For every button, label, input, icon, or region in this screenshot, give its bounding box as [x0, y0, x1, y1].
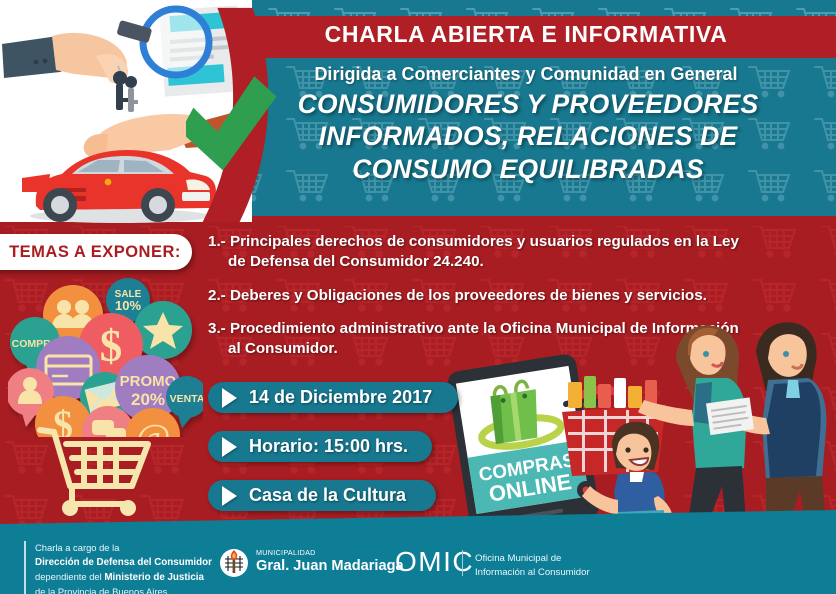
main-title-line-2: INFORMADOS, RELACIONES DE	[226, 120, 830, 152]
omic-subtitle-line-1: Oficina Municipal de	[475, 552, 590, 566]
municipality-crest-icon	[219, 548, 249, 578]
footer-credit-line-1: Charla a cargo de la	[35, 541, 212, 555]
bubble-promo-label: PROMO	[120, 373, 177, 390]
omic-subtitle-line-2: Información al Consumidor	[475, 566, 590, 580]
footer: Charla a cargo de la Dirección de Defens…	[0, 532, 836, 594]
omic-subtitle: Oficina Municipal de Información al Cons…	[475, 552, 590, 579]
municipality-name: Gral. Juan Madariaga	[256, 558, 404, 574]
main-title-line-3: CONSUMO EQUILIBRADAS	[226, 153, 830, 185]
event-time-pill: Horario: 15:00 hrs.	[208, 431, 432, 462]
footer-credit: Charla a cargo de la Dirección de Defens…	[24, 541, 212, 594]
event-date-pill: 14 de Diciembre 2017	[208, 382, 458, 413]
footer-credit-line-3-bold: Ministerio de Justicia	[104, 572, 204, 583]
event-venue-text: Casa de la Cultura	[249, 485, 424, 506]
header-banner: CHARLA ABIERTA E INFORMATIVA	[216, 16, 836, 58]
play-triangle-icon	[222, 486, 237, 506]
footer-credit-line-2: Dirección de Defensa del Consumidor	[35, 557, 212, 568]
play-triangle-icon	[222, 437, 237, 457]
bubble-promo-pct: 20%	[131, 390, 165, 409]
marketing-bubbles-illustration: SALE 10% COMPRA $	[8, 272, 203, 437]
main-title-line-1: CONSUMIDORES Y PROVEEDORES	[226, 88, 830, 120]
footer-credit-line-4: de la Provincia de Buenos Aires	[35, 585, 212, 594]
title-band: Dirigida a Comerciantes y Comunidad en G…	[216, 58, 836, 216]
subtitle: Dirigida a Comerciantes y Comunidad en G…	[216, 64, 836, 85]
event-time-text: Horario: 15:00 hrs.	[249, 436, 426, 457]
poster: Dirigida a Comerciantes y Comunidad en G…	[0, 0, 836, 594]
topics-banner: TEMAS A EXPONER:	[0, 234, 192, 270]
play-triangle-icon	[222, 388, 237, 408]
municipality-name-block: MUNICIPALIDAD Gral. Juan Madariaga	[256, 549, 404, 574]
event-venue-pill: Casa de la Cultura	[208, 480, 436, 511]
topics-banner-label: TEMAS A EXPONER:	[0, 243, 181, 262]
family-shopping-illustration	[560, 300, 836, 560]
shopping-cart-icon	[36, 424, 171, 519]
municipality-label: MUNICIPALIDAD	[256, 549, 404, 557]
main-title: CONSUMIDORES Y PROVEEDORES INFORMADOS, R…	[226, 88, 830, 185]
bubble-venta-label: VENTA	[170, 393, 203, 405]
hand-giving-keys	[2, 33, 128, 83]
footer-credit-line-3-plain: dependiente del	[35, 571, 104, 582]
red-swoosh-divider	[186, 0, 306, 230]
header-banner-text: CHARLA ABIERTA E INFORMATIVA	[216, 21, 836, 48]
svg-text:$: $	[100, 321, 123, 371]
topic-item: 1.- Principales derechos de consumidores…	[208, 232, 753, 273]
event-date-text: 14 de Diciembre 2017	[249, 387, 450, 408]
omic-divider	[462, 550, 463, 576]
bubble-sale-pct: 10%	[115, 298, 141, 313]
